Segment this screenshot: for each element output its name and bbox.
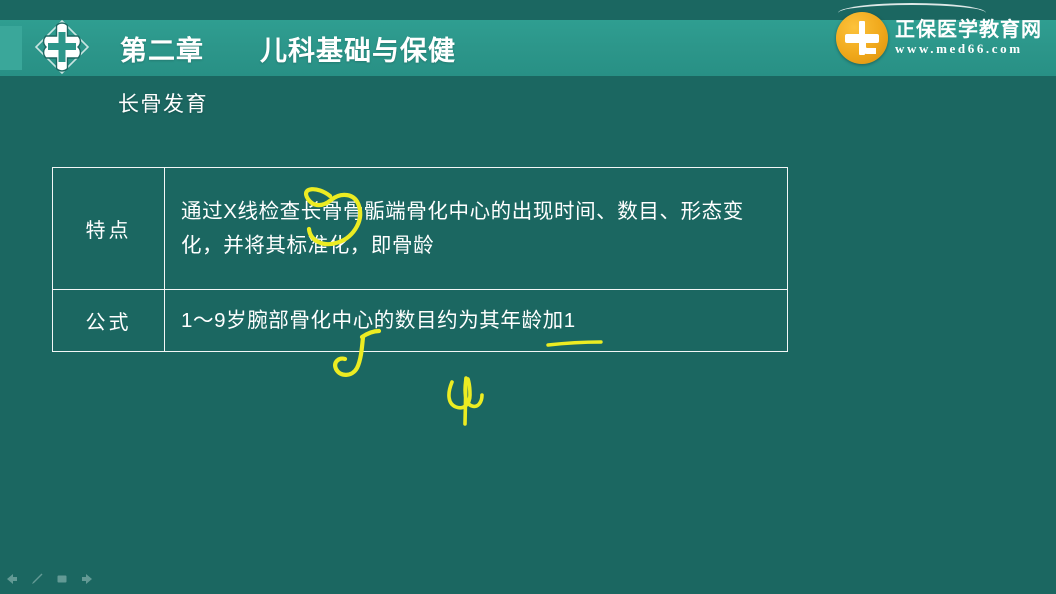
section-subtitle: 长骨发育 bbox=[118, 88, 208, 118]
square-icon[interactable] bbox=[54, 571, 70, 587]
brand-text-block: 正保医学教育网 www.med66.com bbox=[895, 19, 1042, 56]
row-body-formula: 1～9岁腕部骨化中心的数目约为其年龄加1 bbox=[165, 290, 788, 352]
row-body-feature: 通过X线检查长骨骨骺端骨化中心的出现时间、数目、形态变化，并将其标准化，即骨龄 bbox=[165, 168, 788, 290]
row-label-feature: 特点 bbox=[53, 168, 165, 290]
brand-logo: 正保医学教育网 www.med66.com bbox=[836, 8, 1042, 68]
medical-cross-diamond-icon bbox=[34, 19, 90, 75]
brand-mark-hook bbox=[860, 38, 876, 54]
table-row: 公式 1～9岁腕部骨化中心的数目约为其年龄加1 bbox=[53, 290, 788, 352]
page-title: 第二章 儿科基础与保健 bbox=[106, 20, 482, 76]
brand-cross-mark-icon bbox=[836, 12, 888, 64]
content-table: 特点 通过X线检查长骨骨骺端骨化中心的出现时间、数目、形态变化，并将其标准化，即… bbox=[52, 167, 788, 352]
player-toolbar[interactable] bbox=[4, 568, 95, 590]
brand-arc-decoration bbox=[838, 3, 986, 15]
psi-mark-stem bbox=[465, 378, 466, 424]
psi-mark-right-bowl bbox=[465, 379, 482, 406]
table-row: 特点 通过X线检查长骨骨骺端骨化中心的出现时间、数目、形态变化，并将其标准化，即… bbox=[53, 168, 788, 290]
brand-url: www.med66.com bbox=[895, 42, 1042, 56]
pencil-icon[interactable] bbox=[29, 571, 45, 587]
slide-canvas: 第二章 儿科基础与保健 正保医学教育网 www.med66.com 长骨发育 特… bbox=[0, 0, 1056, 594]
brand-name: 正保医学教育网 bbox=[895, 19, 1042, 41]
row-label-formula: 公式 bbox=[53, 290, 165, 352]
back-arrow-icon[interactable] bbox=[4, 571, 20, 587]
page-title-text: 第二章 儿科基础与保健 bbox=[120, 29, 456, 68]
psi-mark-left-bowl bbox=[449, 379, 470, 408]
forward-arrow-icon[interactable] bbox=[79, 571, 95, 587]
header-left-accent-tab bbox=[0, 26, 22, 70]
